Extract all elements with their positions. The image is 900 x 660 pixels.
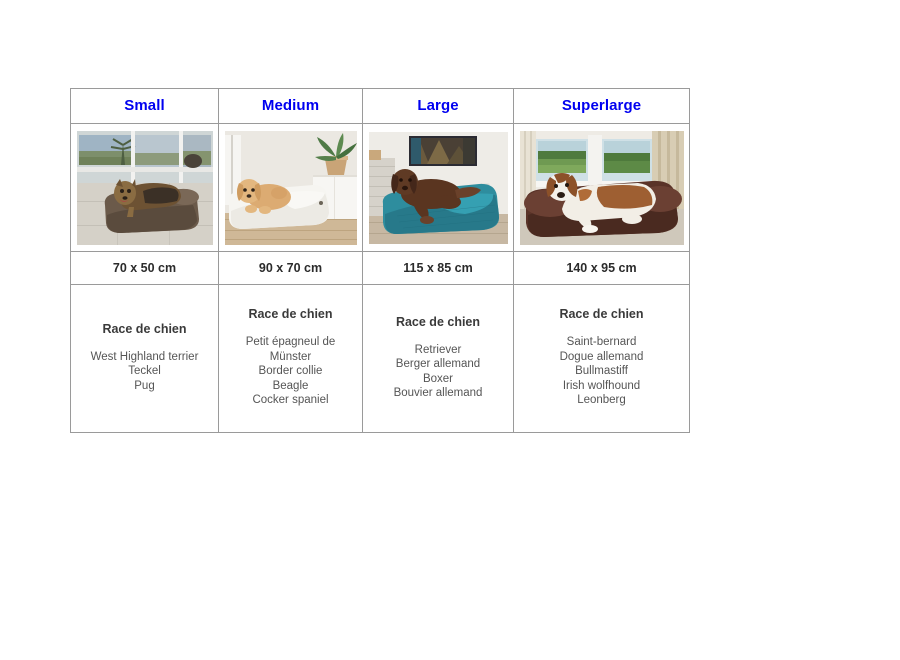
size-label-medium: Medium <box>219 89 362 123</box>
size-label-large: Large <box>363 89 513 123</box>
breeds-cell-superlarge: Race de chien Saint-bernard Dogue allema… <box>514 285 690 433</box>
dimensions-cell-small: 70 x 50 cm <box>71 252 219 285</box>
size-label-superlarge: Superlarge <box>514 89 689 123</box>
breed-list-medium: Petit épagneul de Münster Border collie … <box>223 335 358 408</box>
dimensions-small: 70 x 50 cm <box>71 252 218 284</box>
dimensions-superlarge: 140 x 95 cm <box>514 252 689 284</box>
photo-cell-superlarge <box>514 124 690 252</box>
breed-item: Münster <box>223 350 358 365</box>
dog-bed-size-table: Small Medium Large Superlarge <box>70 88 690 433</box>
breeds-cell-small: Race de chien West Highland terrier Teck… <box>71 285 219 433</box>
breed-list-superlarge: Saint-bernard Dogue allemand Bullmastiff… <box>518 335 685 408</box>
breed-item: Teckel <box>75 364 214 379</box>
photo-frame-superlarge <box>514 124 689 251</box>
photo-frame-medium <box>219 124 362 251</box>
dimensions-medium: 90 x 70 cm <box>219 252 362 284</box>
breed-list-large: Retriever Berger allemand Boxer Bouvier … <box>367 343 509 401</box>
photo-cell-medium <box>219 124 363 252</box>
breed-item: Retriever <box>367 343 509 358</box>
dimensions-large: 115 x 85 cm <box>363 252 513 284</box>
breed-item: Dogue allemand <box>518 350 685 365</box>
photo-frame-small <box>71 124 218 251</box>
breed-item: Irish wolfhound <box>518 379 685 394</box>
breed-item: Beagle <box>223 379 358 394</box>
breed-heading-medium: Race de chien <box>223 307 358 321</box>
breed-item: Berger allemand <box>367 357 509 372</box>
breeds-cell-medium: Race de chien Petit épagneul de Münster … <box>219 285 363 433</box>
photo-frame-large <box>363 124 513 251</box>
header-cell-superlarge: Superlarge <box>514 89 690 124</box>
dimensions-cell-superlarge: 140 x 95 cm <box>514 252 690 285</box>
breed-item: Leonberg <box>518 393 685 408</box>
breed-item: Bouvier allemand <box>367 386 509 401</box>
size-label-small: Small <box>71 89 218 123</box>
header-cell-medium: Medium <box>219 89 363 124</box>
breed-item: West Highland terrier <box>75 350 214 365</box>
photo-cell-small <box>71 124 219 252</box>
large-dog-bed-photo <box>369 132 508 244</box>
breeds-cell-large: Race de chien Retriever Berger allemand … <box>363 285 514 433</box>
breed-item: Border collie <box>223 364 358 379</box>
breed-item: Pug <box>75 379 214 394</box>
photo-cell-large <box>363 124 514 252</box>
breed-item: Saint-bernard <box>518 335 685 350</box>
dimensions-cell-large: 115 x 85 cm <box>363 252 514 285</box>
size-header-row: Small Medium Large Superlarge <box>71 89 690 124</box>
superlarge-dog-bed-photo <box>520 131 684 245</box>
breed-item: Boxer <box>367 372 509 387</box>
breed-heading-small: Race de chien <box>75 322 214 336</box>
breeds-row: Race de chien West Highland terrier Teck… <box>71 285 690 433</box>
dimensions-row: 70 x 50 cm 90 x 70 cm 115 x 85 cm 140 x … <box>71 252 690 285</box>
breed-heading-large: Race de chien <box>367 315 509 329</box>
breed-item: Petit épagneul de <box>223 335 358 350</box>
header-cell-large: Large <box>363 89 514 124</box>
breed-item: Cocker spaniel <box>223 393 358 408</box>
breed-list-small: West Highland terrier Teckel Pug <box>75 350 214 394</box>
dimensions-cell-medium: 90 x 70 cm <box>219 252 363 285</box>
header-cell-small: Small <box>71 89 219 124</box>
breed-heading-superlarge: Race de chien <box>518 307 685 321</box>
small-dog-bed-photo <box>77 131 213 245</box>
medium-dog-bed-photo <box>225 131 357 245</box>
breed-item: Bullmastiff <box>518 364 685 379</box>
product-photo-row <box>71 124 690 252</box>
